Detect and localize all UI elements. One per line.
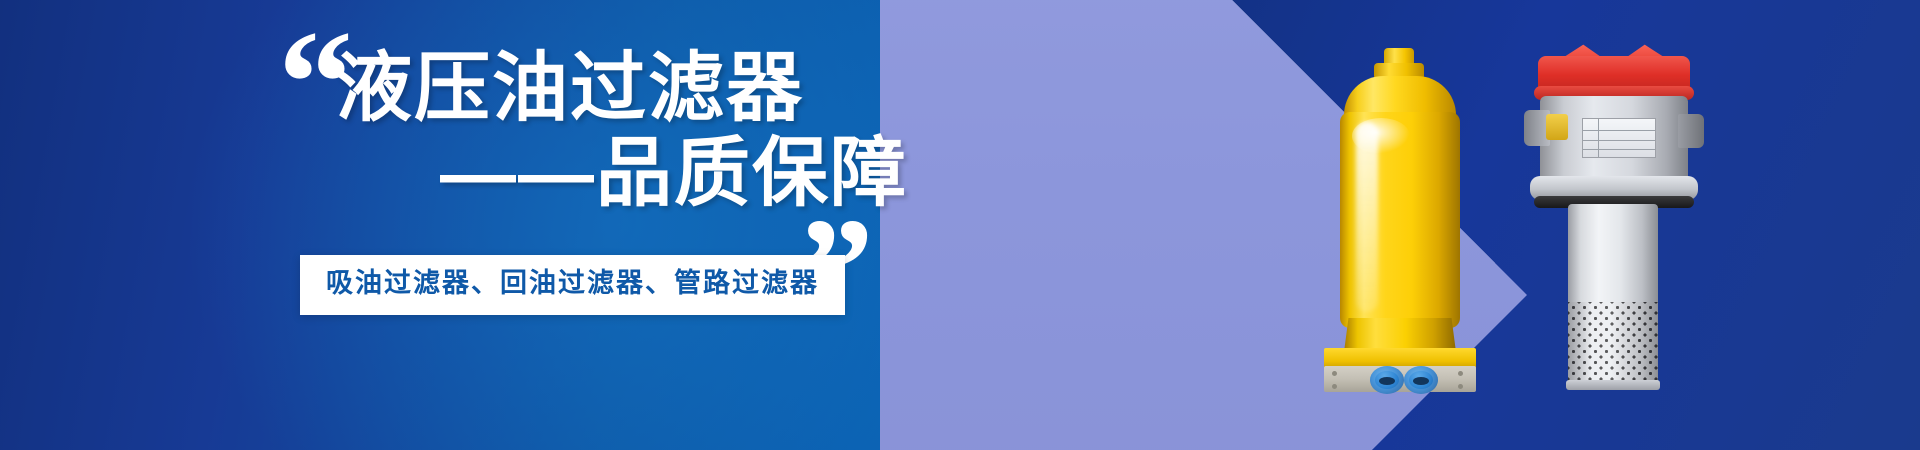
- nameplate-divider: [1598, 119, 1599, 157]
- nameplate-rule: [1583, 149, 1655, 150]
- nameplate-rule: [1583, 140, 1655, 141]
- strainer-foot: [1566, 380, 1660, 390]
- base-bolt: [1332, 384, 1337, 389]
- housing-side-port-right: [1678, 114, 1704, 148]
- filter-taper: [1344, 318, 1456, 352]
- base-bolt: [1332, 371, 1337, 376]
- subtitle-text: 吸油过滤器、回油过滤器、管路过滤器: [326, 267, 819, 301]
- base-bolt: [1458, 384, 1463, 389]
- nameplate: [1582, 118, 1656, 158]
- filter-port-cap-1: [1370, 366, 1404, 394]
- headline: 液压油过滤器 ——品质保障: [300, 46, 920, 216]
- yellow-plug: [1546, 114, 1568, 140]
- filter-port-cap-2: [1404, 366, 1438, 394]
- mesh-shading: [1568, 302, 1658, 384]
- product-image-suction-filter: [1520, 40, 1706, 390]
- subtitle-box: 吸油过滤器、回油过滤器、管路过滤器: [300, 255, 845, 315]
- product-image-yellow-filter: [1318, 48, 1478, 390]
- headline-line-1: 液压油过滤器: [300, 46, 920, 131]
- base-bolt: [1458, 371, 1463, 376]
- promo-banner: “ „ 液压油过滤器 ——品质保障 吸油过滤器、回油过滤器、管路过滤器: [0, 0, 1920, 450]
- nameplate-rule: [1583, 130, 1655, 131]
- headline-line-2: ——品质保障: [300, 131, 920, 216]
- filter-specular-flare: [1352, 118, 1410, 154]
